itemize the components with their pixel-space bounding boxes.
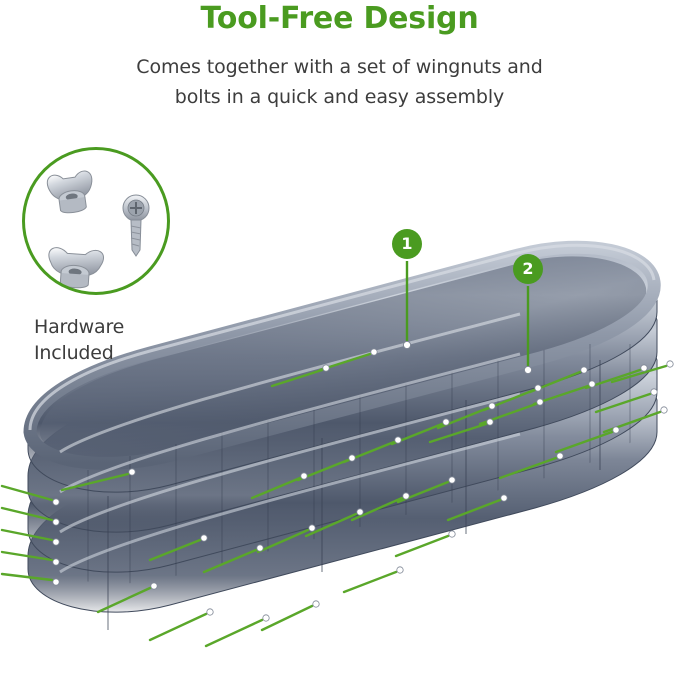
hardware-badge-circle — [22, 147, 170, 295]
callout-marker-1: 1 — [392, 229, 422, 259]
hardware-label-line-2: Included — [34, 340, 124, 366]
garden-bed-body — [28, 245, 657, 630]
hardware-label-line-1: Hardware — [34, 314, 124, 340]
hardware-badge-label: Hardware Included — [34, 314, 124, 366]
product-infographic: Tool-Free Design Comes together with a s… — [0, 0, 679, 682]
callout-marker-2: 2 — [513, 254, 543, 284]
